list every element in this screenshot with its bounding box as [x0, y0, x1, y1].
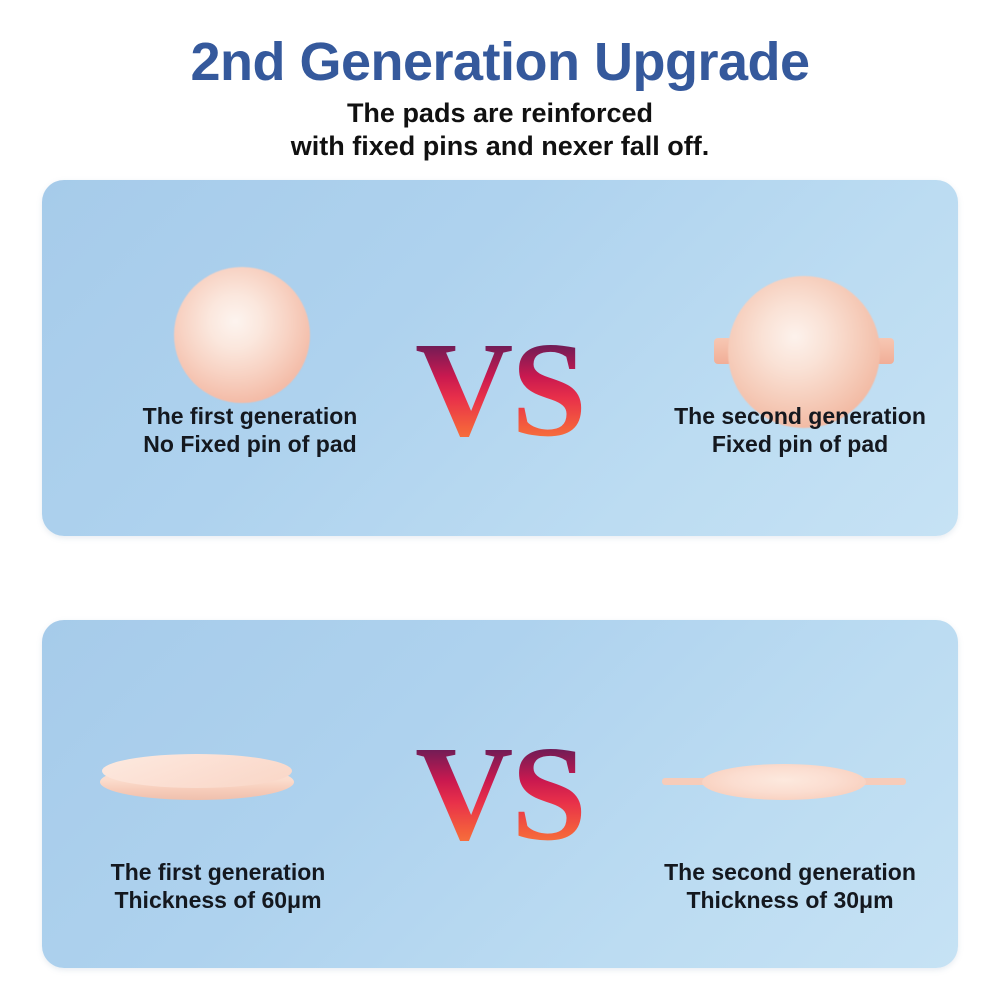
round-pad-no-pin-icon — [174, 267, 310, 403]
caption-first-generation-pin: The first generation No Fixed pin of pad — [118, 402, 382, 458]
thick-disc-pad-group — [100, 754, 294, 802]
caption-line-1: The first generation — [118, 402, 382, 430]
caption-line-2: No Fixed pin of pad — [118, 430, 382, 458]
round-pad-with-pins-group — [714, 276, 894, 418]
vs-label: VS — [415, 726, 585, 862]
vs-label: VS — [415, 322, 585, 458]
panel-pin-comparison: The first generation No Fixed pin of pad… — [42, 180, 958, 536]
thick-disc-top-icon — [102, 754, 292, 788]
caption-line-2: Thickness of 30μm — [640, 886, 940, 914]
lens-body-icon — [702, 764, 866, 800]
page-title: 2nd Generation Upgrade — [0, 0, 1000, 91]
caption-line-2: Thickness of 60μm — [84, 886, 352, 914]
caption-second-generation-thickness: The second generation Thickness of 30μm — [640, 858, 940, 914]
panel-thickness-comparison: The first generation Thickness of 60μm V… — [42, 620, 958, 968]
caption-line-1: The second generation — [650, 402, 950, 430]
caption-first-generation-thickness: The first generation Thickness of 60μm — [84, 858, 352, 914]
subtitle-line-1: The pads are reinforced — [0, 97, 1000, 131]
header: 2nd Generation Upgrade The pads are rein… — [0, 0, 1000, 164]
subtitle: The pads are reinforced with fixed pins … — [0, 91, 1000, 165]
caption-line-1: The second generation — [640, 858, 940, 886]
caption-second-generation-pin: The second generation Fixed pin of pad — [650, 402, 950, 458]
subtitle-line-2: with fixed pins and nexer fall off. — [0, 130, 1000, 164]
caption-line-2: Fixed pin of pad — [650, 430, 950, 458]
caption-line-1: The first generation — [84, 858, 352, 886]
thin-lens-pad-group — [662, 762, 906, 804]
